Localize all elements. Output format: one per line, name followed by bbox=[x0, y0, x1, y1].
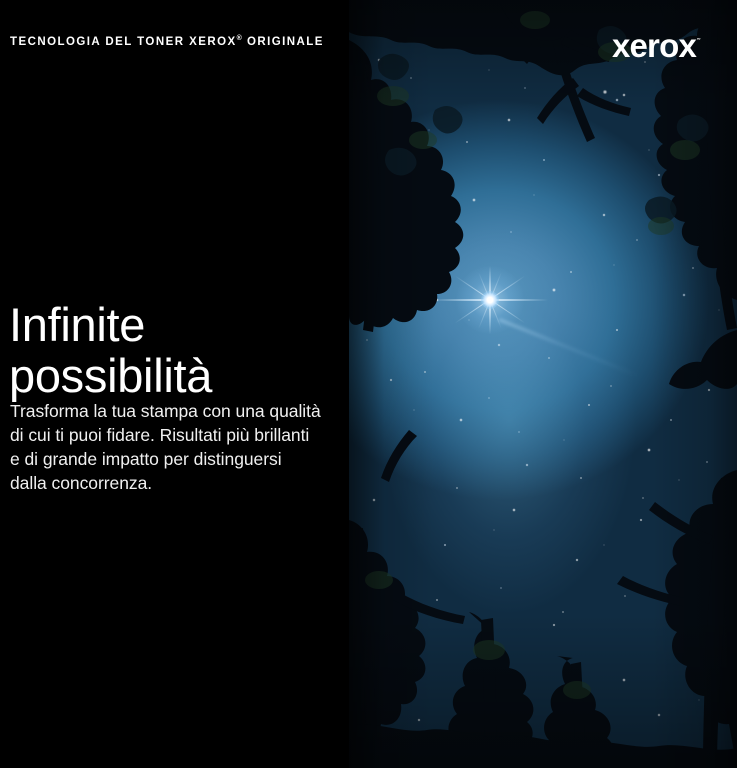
trademark-mark: ˜ bbox=[697, 37, 700, 47]
left-content-panel: TECNOLOGIA DEL TONER XEROX® ORIGINALE In… bbox=[0, 0, 349, 768]
xerox-toner-banner: TECNOLOGIA DEL TONER XEROX® ORIGINALE In… bbox=[0, 0, 737, 768]
body-copy: Trasforma la tua stampa con una qualità … bbox=[10, 399, 322, 496]
xerox-logo: xerox˜ bbox=[612, 27, 700, 61]
logo-wordmark: xerox bbox=[612, 27, 696, 64]
headline-line-2: possibilità bbox=[9, 350, 212, 401]
page-title: Infinitepossibilità bbox=[9, 299, 212, 401]
eyebrow-suffix: ORIGINALE bbox=[242, 36, 324, 48]
tree-silhouettes bbox=[349, 0, 737, 768]
night-sky-photo bbox=[349, 0, 737, 768]
headline-line-1: Infinite bbox=[9, 299, 212, 350]
eyebrow-text: TECNOLOGIA DEL TONER XEROX bbox=[10, 36, 237, 48]
eyebrow-label: TECNOLOGIA DEL TONER XEROX® ORIGINALE bbox=[10, 32, 324, 49]
